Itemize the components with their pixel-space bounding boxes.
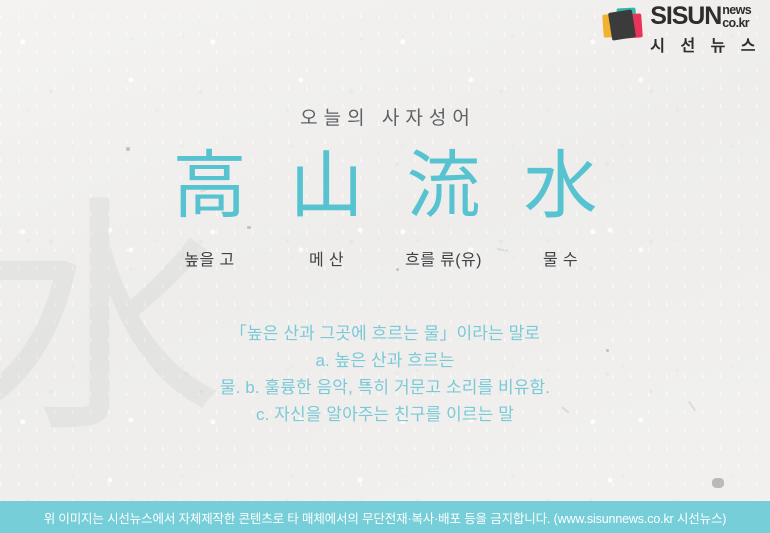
logo-wordmark: SISUN news co.kr 시 선 뉴 스 <box>650 5 762 56</box>
description-line: 「높은 산과 그곳에 흐르는 물」이라는 말로 <box>0 320 770 347</box>
footer-copyright-bar: 위 이미지는 시선뉴스에서 자체제작한 콘텐츠로 타 매체에서의 무단전재·복사… <box>0 501 770 533</box>
idiom-description: 「높은 산과 그곳에 흐르는 물」이라는 말로 a. 높은 산과 흐르는 물. … <box>0 320 770 428</box>
hanja-cell-1: 高 <box>151 148 268 224</box>
hanja-character: 高 <box>151 148 268 224</box>
hanja-gloss: 흐를 류(유) <box>385 246 502 270</box>
footer-notice-text: 위 이미지는 시선뉴스에서 자체제작한 콘텐츠로 타 매체에서의 무단전재·복사… <box>44 508 727 527</box>
description-line: c. 자신을 알아주는 친구를 이르는 말 <box>0 401 770 428</box>
hanja-cell-3: 流 <box>385 148 502 224</box>
description-line: 물. b. 훌륭한 음악, 특히 거문고 소리를 비유함. <box>0 374 770 401</box>
logo-suffix-news: news <box>722 4 751 17</box>
sisun-news-logo[interactable]: SISUN news co.kr 시 선 뉴 스 <box>603 5 762 56</box>
idiom-card: 水 SISUN news co.kr 시 선 뉴 스 오늘의 사자성어 高 <box>0 0 770 533</box>
hanja-character: 山 <box>268 148 385 224</box>
hanja-character: 水 <box>502 148 619 224</box>
paper-speck <box>712 478 724 488</box>
paper-speck <box>247 226 251 229</box>
hanja-cell-2: 山 <box>268 148 385 224</box>
hanja-gloss: 물 수 <box>502 246 619 270</box>
hanja-row: 高 山 流 水 <box>0 148 770 224</box>
sisun-logo-squares-icon <box>603 5 643 45</box>
logo-domain-stack: news co.kr <box>722 4 751 30</box>
logo-name-korean: 시 선 뉴 스 <box>650 32 762 56</box>
hanja-gloss: 높을 고 <box>151 246 268 270</box>
logo-suffix-domain: co.kr <box>722 17 751 30</box>
hanja-gloss: 메 산 <box>268 246 385 270</box>
logo-wordmark-row: SISUN news co.kr <box>650 5 762 30</box>
logo-square-dark <box>608 9 636 40</box>
gloss-row: 높을 고 메 산 흐를 류(유) 물 수 <box>0 246 770 270</box>
page-title: 오늘의 사자성어 <box>0 103 770 130</box>
hanja-character: 流 <box>385 148 502 224</box>
hanja-cell-4: 水 <box>502 148 619 224</box>
description-line: a. 높은 산과 흐르는 <box>0 347 770 374</box>
logo-name-latin: SISUN <box>650 5 721 29</box>
